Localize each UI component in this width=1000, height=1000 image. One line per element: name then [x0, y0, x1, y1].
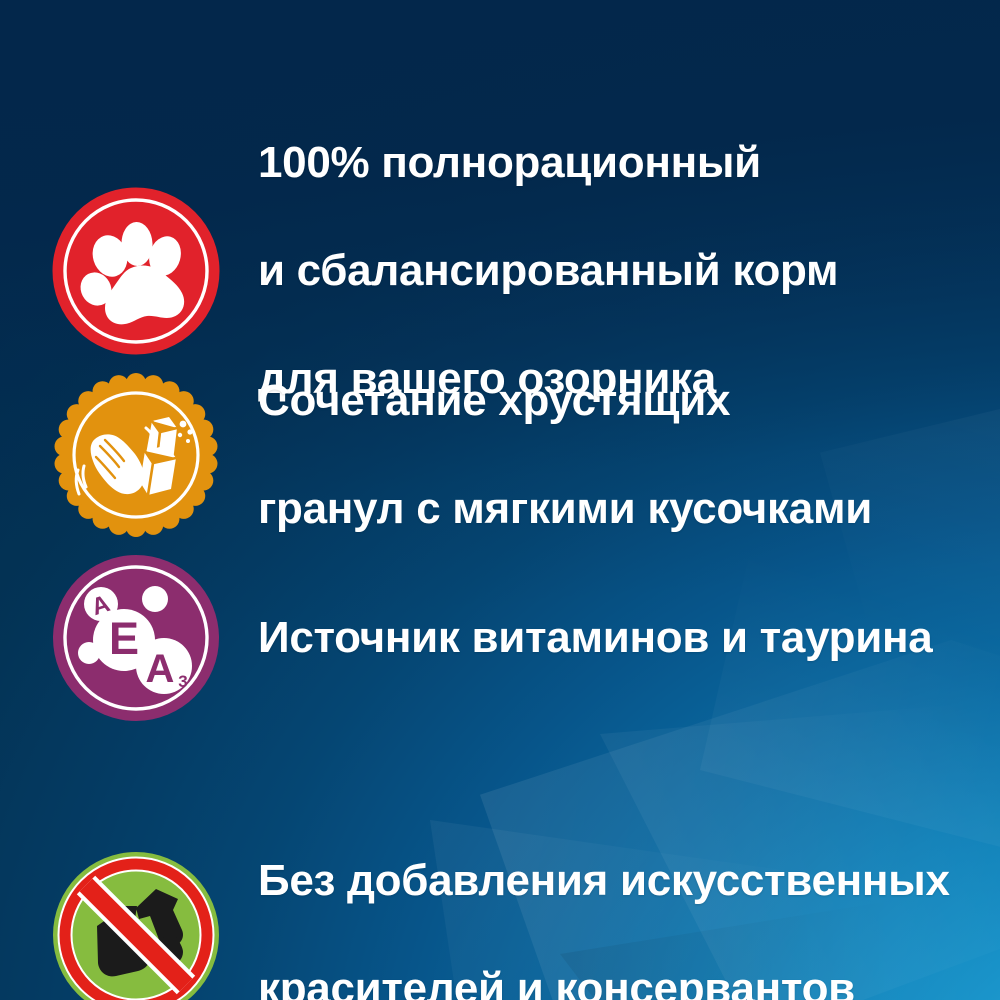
promo-poster: 100% полнорационный и сбалансированный к… [0, 0, 1000, 1000]
feature-text-crunchy-and-soft: Сочетание хрустящих гранул с мягкими кус… [258, 320, 872, 590]
feature-line: и сбалансированный корм [258, 244, 838, 298]
feature-row-no-artificial-additives: Без добавления искусственных красителей … [52, 800, 950, 1000]
feature-row-vitamins-taurine: A E A 3 Источник витаминов и таурина [52, 554, 932, 722]
feature-line: 100% полнорационный [258, 136, 838, 190]
feature-line: красителей и консервантов [258, 962, 950, 1000]
vitamin-letter-a: A [146, 647, 175, 691]
feature-list: 100% полнорационный и сбалансированный к… [0, 0, 1000, 1000]
feature-line: Без добавления искусственных [258, 854, 950, 908]
feature-line: Источник витаминов и таурина [258, 611, 932, 665]
vitamin-letter-subscript-3: 3 [178, 672, 187, 691]
vitamins-bubbles-icon: A E A 3 [52, 554, 220, 722]
feature-line: Сочетание хрустящих [258, 374, 872, 428]
no-artificial-colors-icon [52, 851, 220, 1000]
kibble-chunks-icon [52, 371, 220, 539]
feature-row-crunchy-and-soft: Сочетание хрустящих гранул с мягкими кус… [52, 320, 872, 590]
feature-line: гранул с мягкими кусочками [258, 482, 872, 536]
vitamin-letter-e: E [109, 613, 139, 664]
feature-text-vitamins-taurine: Источник витаминов и таурина [258, 557, 932, 719]
feature-text-no-artificial-additives: Без добавления искусственных красителей … [258, 800, 950, 1000]
